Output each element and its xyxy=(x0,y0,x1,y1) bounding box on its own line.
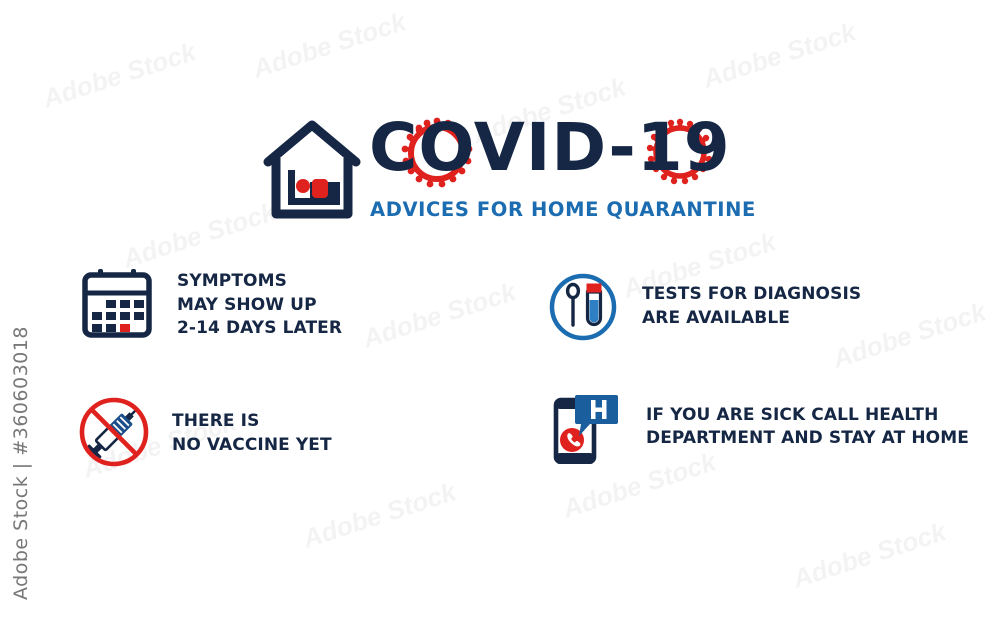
advice-line: NO VACCINE YET xyxy=(172,434,332,458)
watermark-tile: Adobe Stock xyxy=(789,516,950,595)
phone-hospital-icon xyxy=(550,392,620,464)
advice-line: THERE IS xyxy=(172,410,332,434)
page-title: COVID-19 xyxy=(369,110,731,186)
hospital-bubble xyxy=(575,395,618,436)
tube-cap xyxy=(587,284,602,293)
watermark-tile: Adobe Stock xyxy=(359,276,520,355)
title-block: COVID-19 ADVICES FOR HOME QUARANTINE xyxy=(369,110,759,188)
house-with-bed-icon xyxy=(262,118,362,227)
infographic-canvas: Adobe Stock Adobe Stock Adobe Stock Adob… xyxy=(0,0,1000,620)
advice-line: 2-14 DAYS LATER xyxy=(177,317,342,341)
advice-line: SYMPTOMS xyxy=(177,270,342,294)
advice-item-symptoms: SYMPTOMS MAY SHOW UP 2-14 DAYS LATER xyxy=(80,266,342,341)
advice-text-tests: TESTS FOR DIAGNOSIS ARE AVAILABLE xyxy=(642,283,861,330)
advice-item-tests: TESTS FOR DIAGNOSIS ARE AVAILABLE xyxy=(548,272,861,342)
covid-title-row: COVID-19 xyxy=(369,110,759,188)
watermark-tile: Adobe Stock xyxy=(119,196,280,275)
header: COVID-19 ADVICES FOR HOME QUARANTINE xyxy=(262,110,762,235)
calendar-highlighted-day xyxy=(120,324,130,332)
advice-item-vaccine: THERE IS NO VACCINE YET xyxy=(78,396,332,468)
advice-line: TESTS FOR DIAGNOSIS xyxy=(642,283,861,307)
stock-watermark-label: Adobe Stock | #360603018 xyxy=(6,370,36,600)
advice-item-call: IF YOU ARE SICK CALL HEALTH DEPARTMENT A… xyxy=(550,392,969,464)
watermark-tile: Adobe Stock xyxy=(699,16,860,95)
watermark-tile: Adobe Stock xyxy=(299,476,460,555)
watermark-tile: Adobe Stock xyxy=(249,6,410,85)
advice-line-normal: DEPARTMENT AND xyxy=(646,428,829,448)
advice-line: MAY SHOW UP xyxy=(177,294,342,318)
watermark-tile: Adobe Stock xyxy=(39,36,200,115)
advice-text-call: IF YOU ARE SICK CALL HEALTH DEPARTMENT A… xyxy=(646,404,969,450)
advice-line-emphasis: STAY AT HOME xyxy=(829,428,969,448)
advice-text-vaccine: THERE IS NO VACCINE YET xyxy=(172,410,332,457)
advice-line: ARE AVAILABLE xyxy=(642,307,861,331)
no-vaccine-icon xyxy=(78,396,150,468)
advice-text-symptoms: SYMPTOMS MAY SHOW UP 2-14 DAYS LATER xyxy=(177,270,342,341)
page-subtitle: ADVICES FOR HOME QUARANTINE xyxy=(370,198,756,221)
test-tube-shape xyxy=(587,284,602,325)
advice-line: DEPARTMENT AND STAY AT HOME xyxy=(646,427,969,450)
calendar-icon xyxy=(80,266,154,340)
advice-line: IF YOU ARE SICK CALL HEALTH xyxy=(646,404,969,427)
test-tube-swab-icon xyxy=(548,272,618,342)
